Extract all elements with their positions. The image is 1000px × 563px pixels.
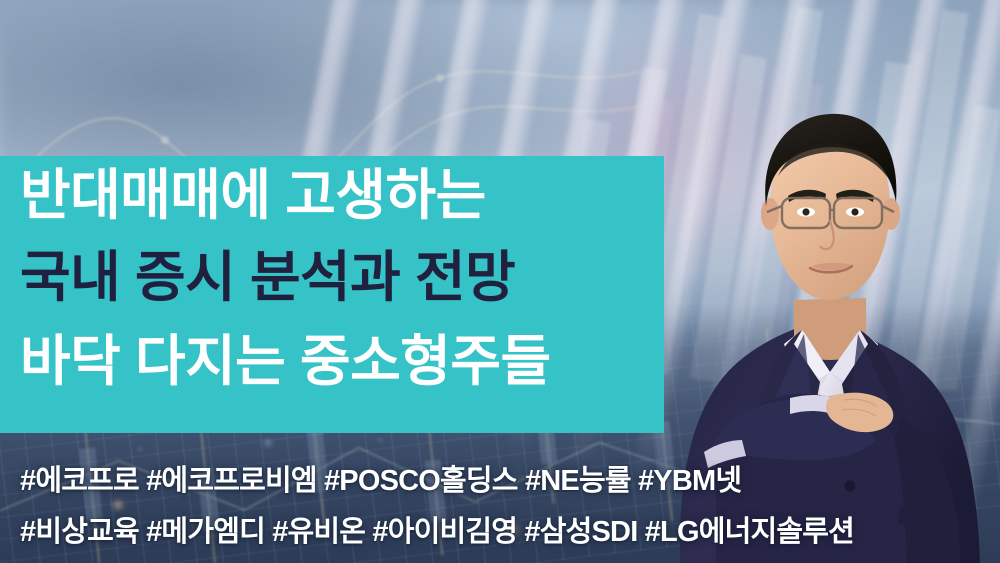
- hashtag-block: #에코프로 #에코프로비엠 #POSCO홀딩스 #NE능률 #YBM넷 #비상교…: [20, 467, 1000, 547]
- hashtag-line-1: #에코프로 #에코프로비엠 #POSCO홀딩스 #NE능률 #YBM넷: [20, 467, 1000, 496]
- thumbnail-canvas: 반대매매에 고생하는 국내 증시 분석과 전망 바닥 다지는 중소형주들 #에코…: [0, 0, 1000, 563]
- title-line-1: 반대매매에 고생하는: [20, 168, 486, 223]
- title-banner: 반대매매에 고생하는 국내 증시 분석과 전망 바닥 다지는 중소형주들: [0, 156, 664, 433]
- title-line-2: 국내 증시 분석과 전망: [20, 250, 515, 305]
- title-line-3: 바닥 다지는 중소형주들: [20, 334, 551, 389]
- hashtag-line-2: #비상교육 #메가엠디 #유비온 #아이비김영 #삼성SDI #LG에너지솔루션: [20, 518, 1000, 547]
